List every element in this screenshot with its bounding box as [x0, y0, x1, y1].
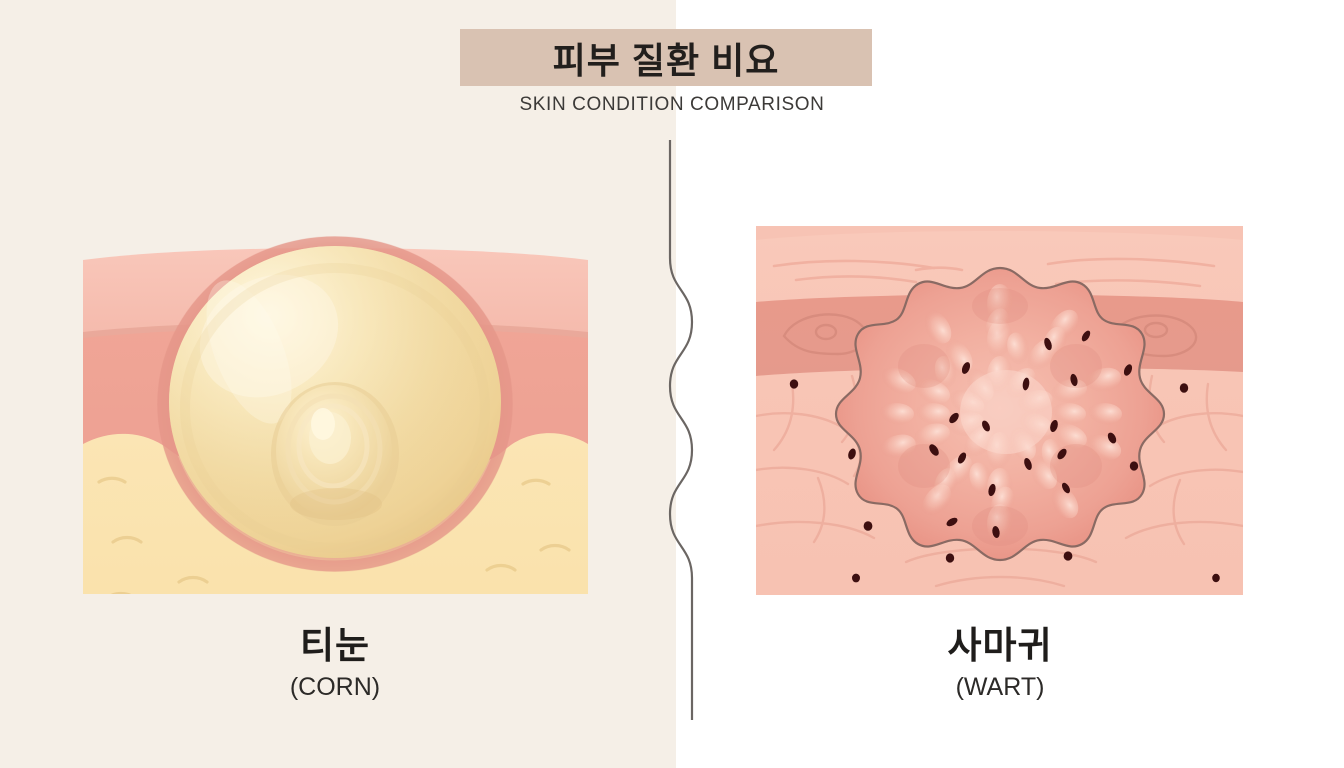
wart-label-ko: 사마귀 [800, 625, 1200, 668]
corn-caption: 티눈 (CORN) [135, 625, 535, 701]
wart-illustration [756, 226, 1243, 595]
corn-label-en: (CORN) [135, 674, 535, 702]
page-subtitle: SKIN CONDITION COMPARISON [372, 92, 972, 118]
page-title: 피부 질환 비요 [460, 29, 872, 86]
wart-caption: 사마귀 (WART) [800, 625, 1200, 701]
corn-illustration [83, 232, 588, 594]
infographic-canvas: 피부 질환 비요 SKIN CONDITION COMPARISON [0, 0, 1344, 768]
corn-label-ko: 티눈 [135, 625, 535, 668]
panel-divider [640, 140, 720, 720]
wart-label-en: (WART) [800, 674, 1200, 702]
